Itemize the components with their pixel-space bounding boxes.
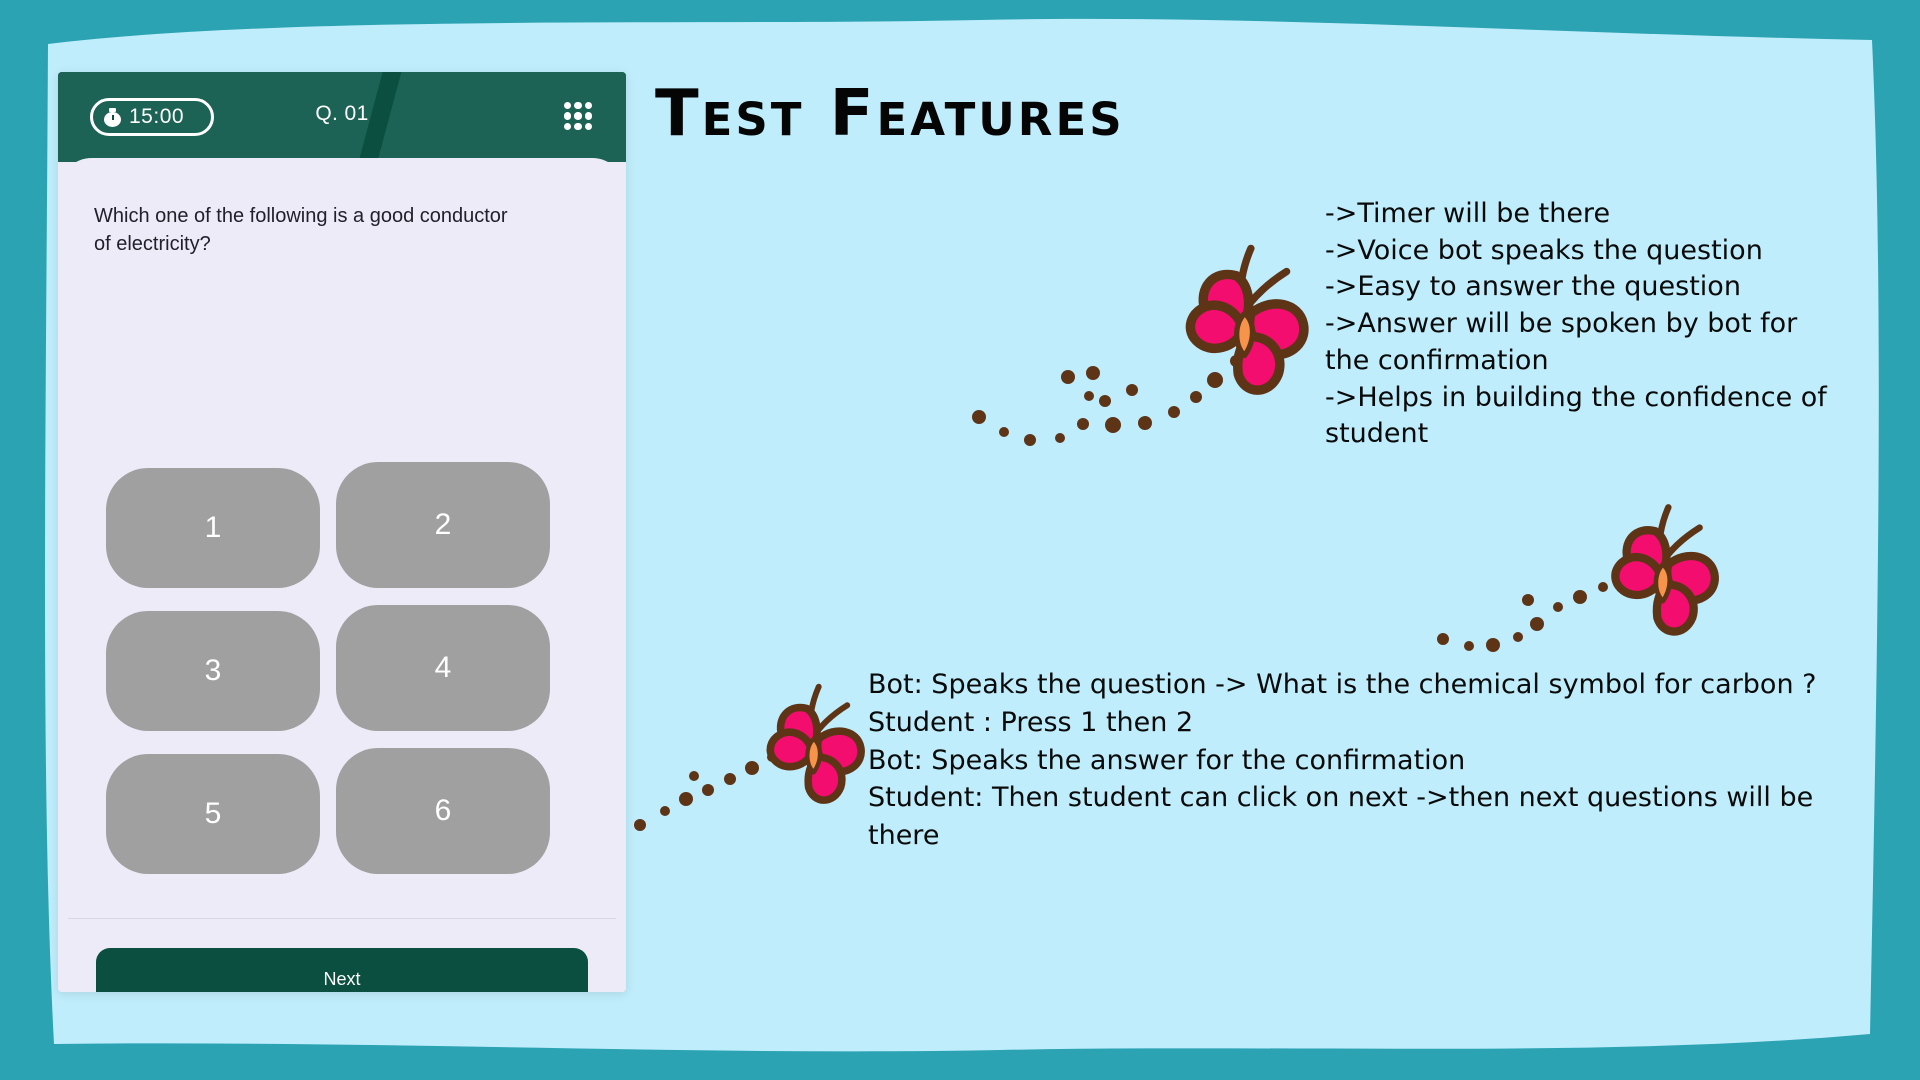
dotted-trail-bottom [634,740,796,831]
dotted-trail-middle [1437,555,1647,652]
dialogue-line: Student: Then student can click on next … [868,779,1828,855]
butterfly-top [1190,248,1304,390]
feature-item: ->Easy to answer the question [1325,269,1845,306]
answer-option-2[interactable]: 2 [336,462,550,588]
grid-menu-icon[interactable] [564,102,592,130]
answer-option-1[interactable]: 1 [106,468,320,588]
next-button[interactable]: Next [96,948,588,992]
answer-option-5[interactable]: 5 [106,754,320,874]
feature-item: ->Voice bot speaks the question [1325,233,1845,270]
feature-item: ->Answer will be spoken by bot for the c… [1325,306,1845,379]
answer-option-6[interactable]: 6 [336,748,550,874]
page-title: Test Features [655,82,1125,146]
phone-header: 15:00 Q. 01 [58,72,626,162]
answer-options: 1 2 3 4 5 6 [106,468,578,898]
feature-item: ->Helps in building the confidence of st… [1325,380,1845,453]
question-text: Which one of the following is a good con… [94,202,514,259]
feature-item: ->Timer will be there [1325,196,1845,233]
question-card: Which one of the following is a good con… [58,158,626,992]
dialogue-block: Bot: Speaks the question -> What is the … [868,666,1828,855]
features-list: ->Timer will be there ->Voice bot speaks… [1325,196,1845,453]
butterfly-middle [1615,507,1715,631]
butterfly-bottom [770,687,861,800]
phone-mockup: 15:00 Q. 01 Which one of the following i… [58,72,626,992]
dialogue-line: Bot: Speaks the question -> What is the … [868,666,1828,704]
dialogue-line: Student : Press 1 then 2 [868,704,1828,742]
card-divider [68,918,616,919]
question-number: Q. 01 [58,102,626,126]
answer-option-3[interactable]: 3 [106,611,320,731]
dotted-trail-top [972,355,1242,446]
dialogue-line: Bot: Speaks the answer for the confirmat… [868,742,1828,780]
answer-option-4[interactable]: 4 [336,605,550,731]
